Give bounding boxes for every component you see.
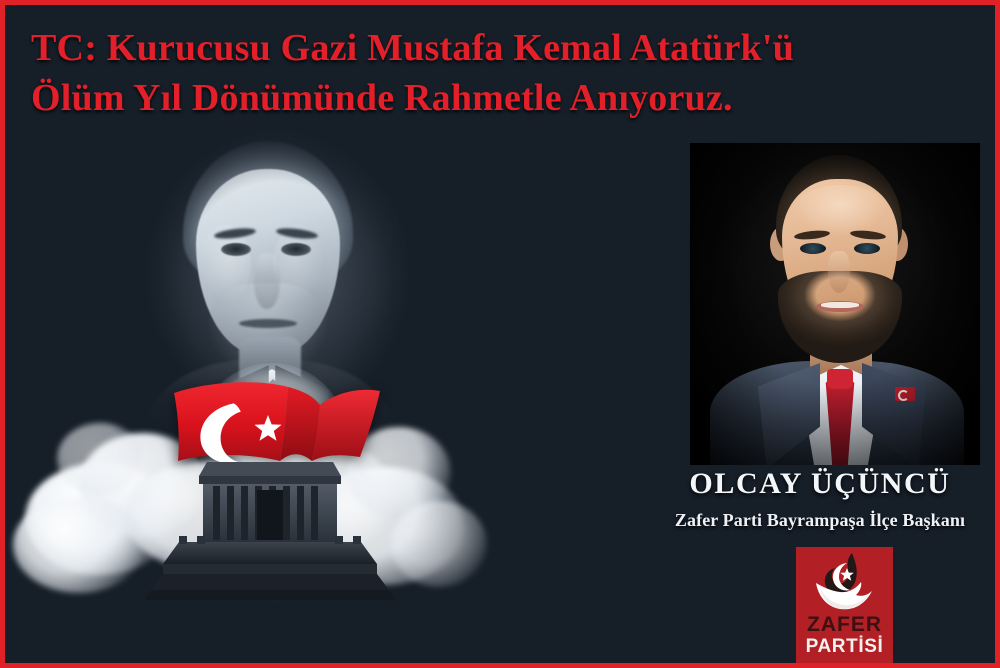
smoke-puff xyxy=(13,497,145,593)
smoke-puff xyxy=(391,501,487,587)
photo-vignette xyxy=(690,143,980,465)
person-photo xyxy=(690,143,980,465)
turkish-flag-icon xyxy=(168,377,398,469)
person-name: OLCAY ÜÇÜNCÜ xyxy=(645,467,995,501)
flame-crescent-star-icon xyxy=(806,551,884,617)
logo-text-partisi: PARTİSİ xyxy=(796,636,893,658)
headline-line-2: Ölüm Yıl Dönümünde Rahmetle Anıyoruz. xyxy=(31,73,931,123)
page-title: TC: Kurucusu Gazi Mustafa Kemal Atatürk'… xyxy=(31,23,931,123)
anitkabir-monument-icon xyxy=(145,460,395,605)
person-role: Zafer Parti Bayrampaşa İlçe Başkanı xyxy=(645,510,995,531)
zafer-partisi-logo: ZAFER PARTİSİ xyxy=(796,547,893,663)
headline-line-1: TC: Kurucusu Gazi Mustafa Kemal Atatürk'… xyxy=(31,27,794,69)
logo-text-zafer: ZAFER xyxy=(796,613,893,637)
memorial-poster: TC: Kurucusu Gazi Mustafa Kemal Atatürk'… xyxy=(0,0,1000,668)
